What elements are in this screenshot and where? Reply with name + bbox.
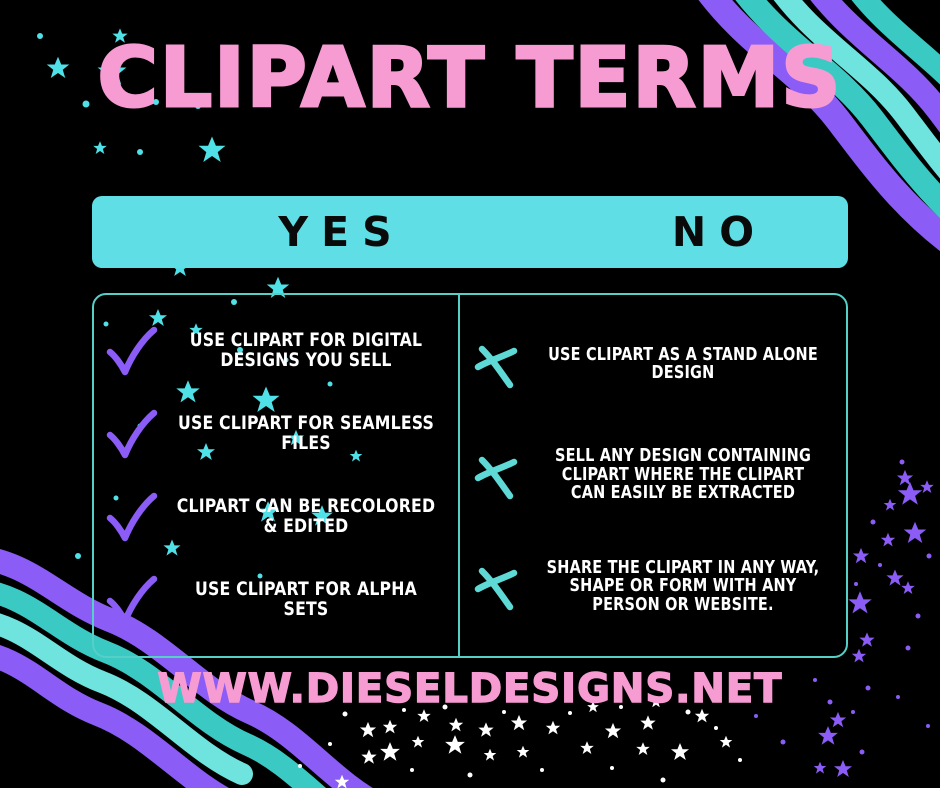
checkmark-icon [104,324,158,378]
checkmark-icon [104,490,158,544]
terms-table: USE CLIPART FOR DIGITAL DESIGNS YOU SELL… [92,293,848,658]
checkmark-icon [104,573,158,627]
list-item-label: USE CLIPART FOR DIGITAL DESIGNS YOU SELL [175,331,436,371]
clipart-terms-graphic: CLIPART TERMS YES NO USE CLIPART FOR DIG… [0,0,940,788]
page-title: CLIPART TERMS [0,38,940,120]
header-yes-label: YES [92,196,578,268]
list-item: USE CLIPART AS A STAND ALONE DESIGN [466,335,840,393]
checkmark-icon [104,407,158,461]
list-item: USE CLIPART FOR ALPHA SETS [100,571,452,629]
website-url: WWW.DIESELDESIGNS.NET [0,666,940,712]
cross-x-icon [470,559,524,613]
list-item-label: USE CLIPART AS A STAND ALONE DESIGN [542,346,824,383]
cross-x-icon [470,448,524,502]
cross-x-icon [470,337,524,391]
header-no-label: NO [578,196,848,268]
list-item: CLIPART CAN BE RECOLORED & EDITED [100,488,452,546]
list-item: SHARE THE CLIPART IN ANY WAY, SHAPE OR F… [466,557,840,616]
list-item-label: SHARE THE CLIPART IN ANY WAY, SHAPE OR F… [542,559,824,614]
yes-no-header-bar: YES NO [92,196,848,268]
yes-column: USE CLIPART FOR DIGITAL DESIGNS YOU SELL… [94,295,460,656]
list-item: SELL ANY DESIGN CONTAINING CLIPART WHERE… [466,445,840,504]
list-item: USE CLIPART FOR DIGITAL DESIGNS YOU SELL [100,322,452,380]
list-item-label: CLIPART CAN BE RECOLORED & EDITED [175,497,436,537]
list-item: USE CLIPART FOR SEAMLESS FILES [100,405,452,463]
list-item-label: SELL ANY DESIGN CONTAINING CLIPART WHERE… [542,447,824,502]
list-item-label: USE CLIPART FOR ALPHA SETS [175,580,436,620]
no-column: USE CLIPART AS A STAND ALONE DESIGN SELL… [460,295,846,656]
list-item-label: USE CLIPART FOR SEAMLESS FILES [175,414,436,454]
